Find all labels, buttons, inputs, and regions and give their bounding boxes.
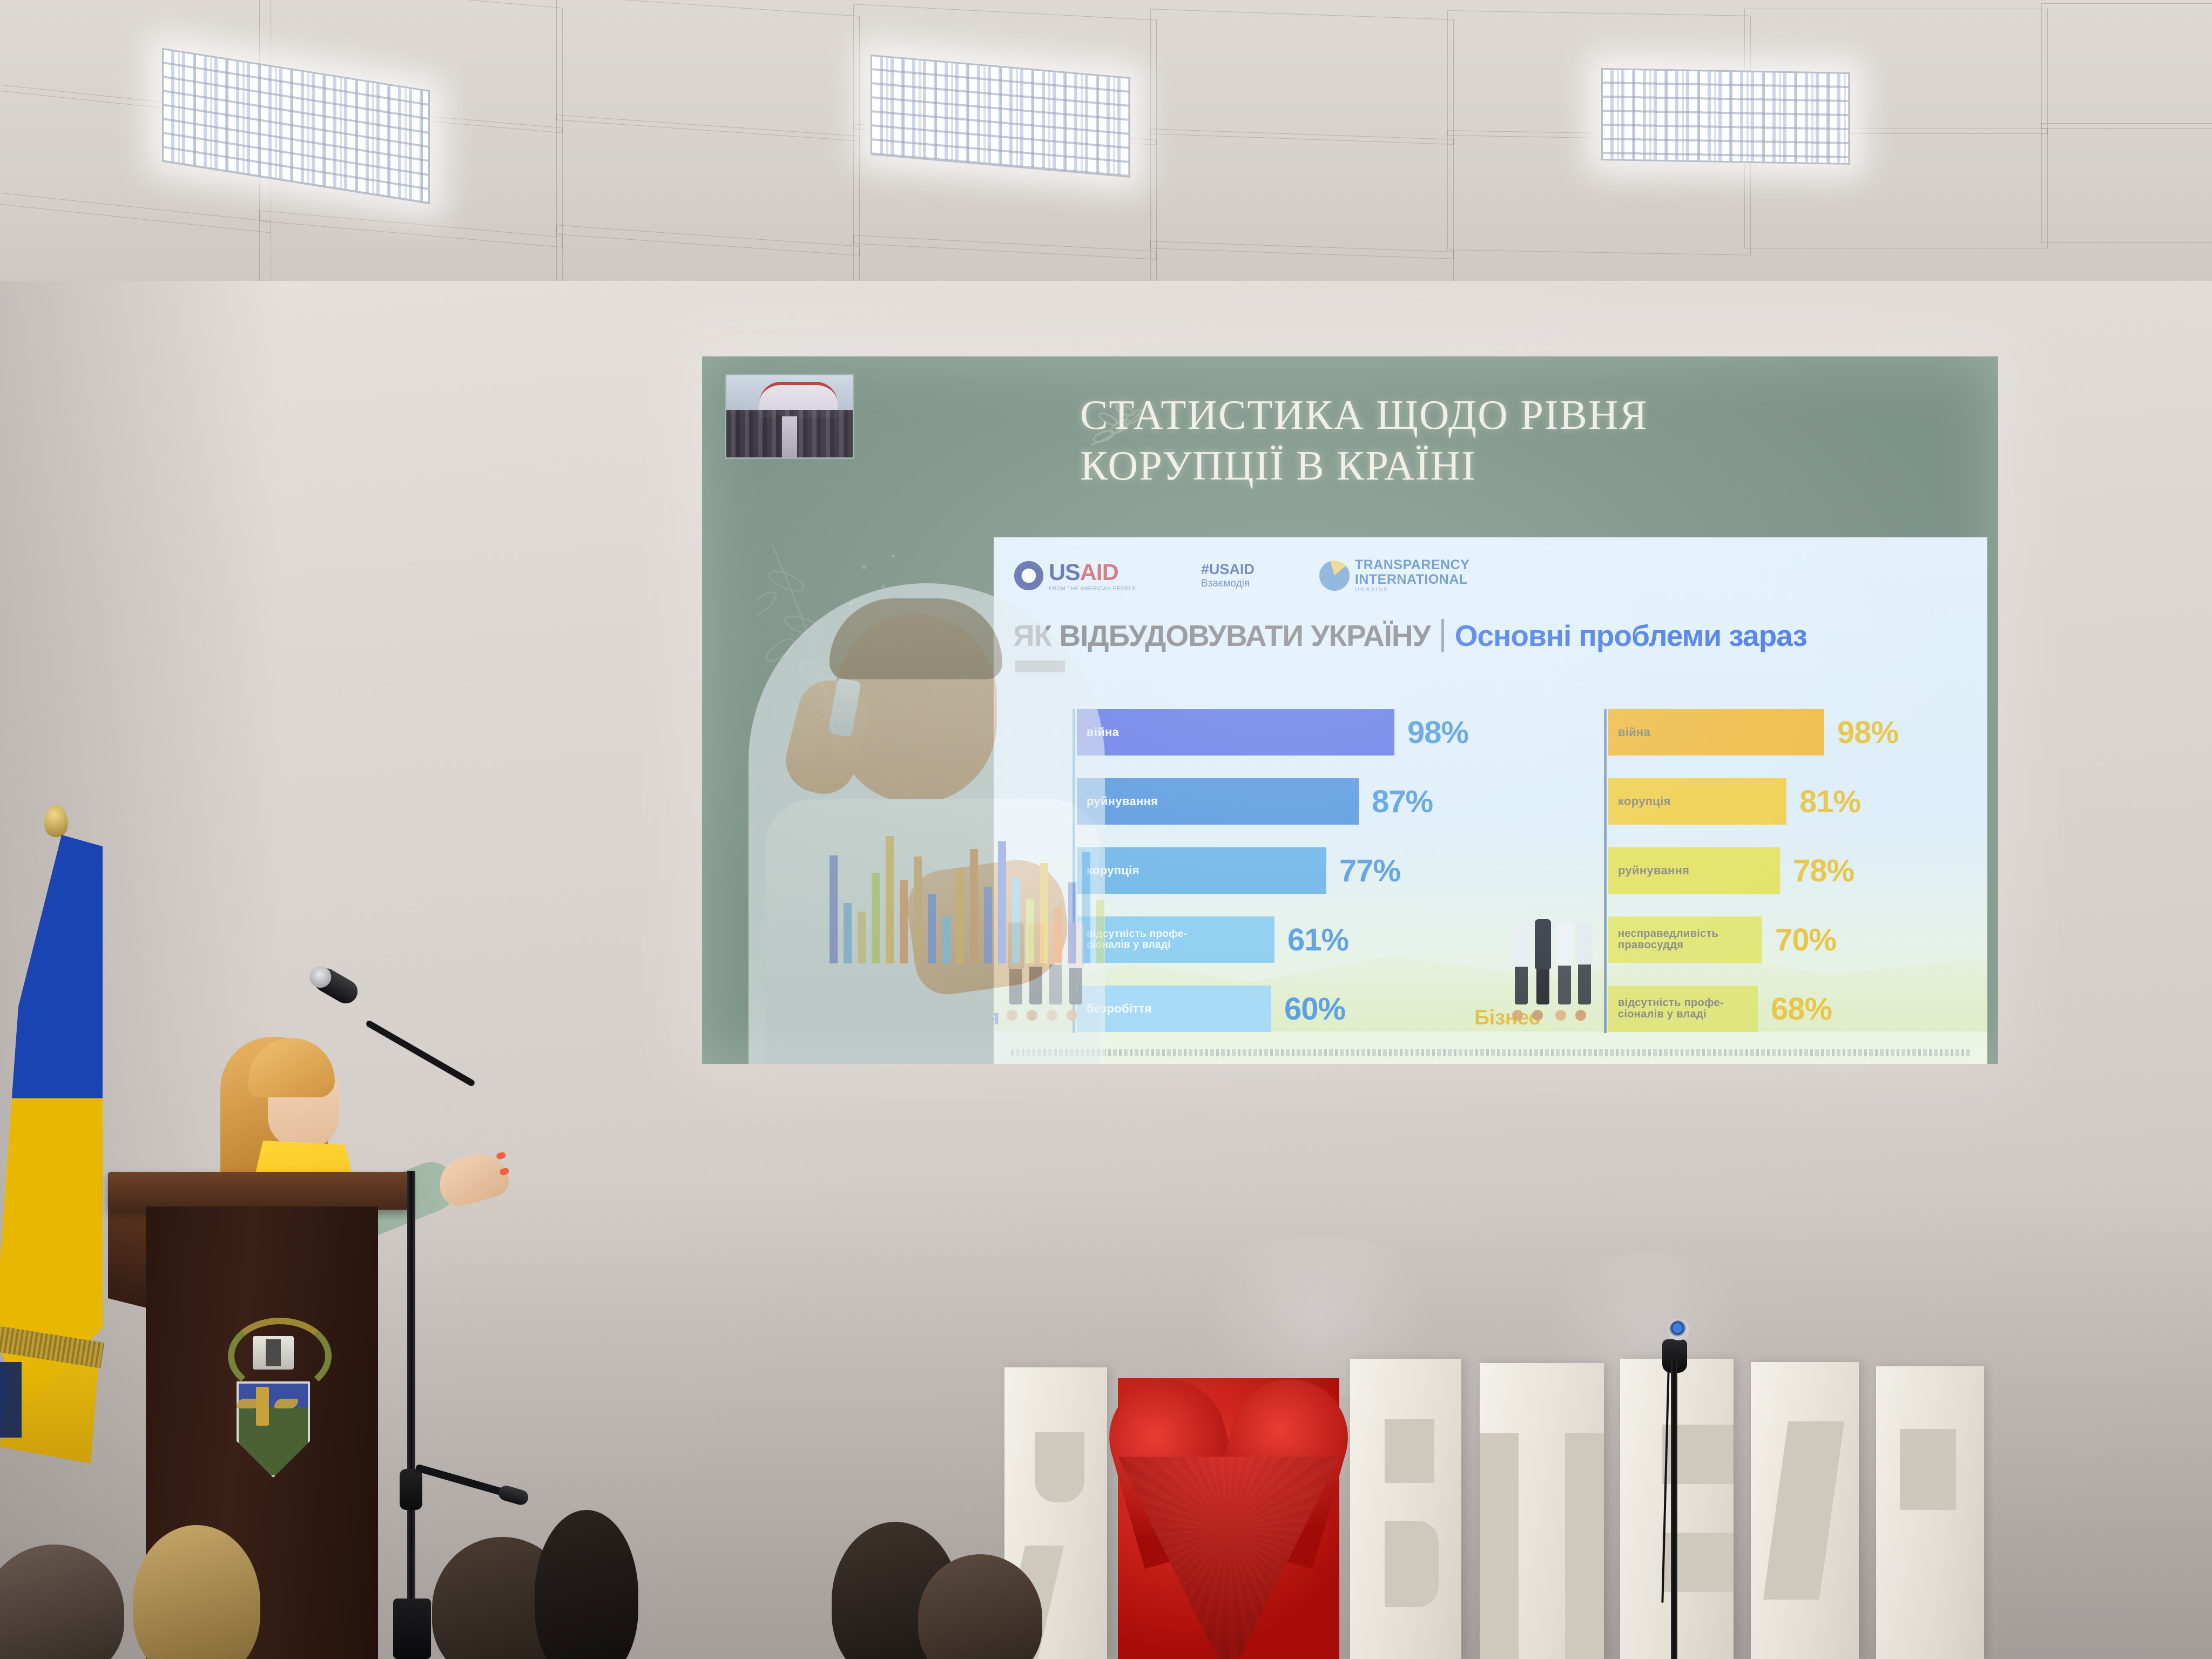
bar-value: 78% (1793, 853, 1854, 889)
flag-cloth (0, 835, 103, 1407)
business-group-label: Бізнес (1474, 1006, 1540, 1030)
business-people-illustration (1512, 918, 1594, 1004)
crest-shield (237, 1381, 310, 1478)
presentation-slide: СТАТИСТИКА ЩОДО РІВНЯ КОРУПЦІЇ В КРАЇНІ … (702, 356, 1998, 1064)
bar-row: відсутність профе- сіоналів у владі 68% (1608, 986, 1832, 1032)
ti-line2: INTERNATIONAL (1355, 572, 1470, 587)
bar: відсутність профе- сіоналів у владі (1608, 986, 1758, 1032)
bar: корупція (1608, 778, 1786, 825)
audience-head (0, 1545, 124, 1659)
ti-country: UKRAINE (1355, 586, 1470, 593)
usaid-aid-text: AID (1080, 559, 1118, 585)
bar: руйнування (1608, 847, 1780, 894)
flag-finial (44, 805, 68, 837)
audience-heads (0, 1497, 2212, 1659)
bar-row: руйнування 87% (1077, 778, 1433, 825)
usaid-us-text: US (1049, 559, 1080, 585)
bar-value: 98% (1407, 714, 1468, 751)
ti-globe-icon (1319, 561, 1350, 591)
bar-row: відсутність профе- сіоналів у владі 61% (1077, 916, 1348, 963)
fingernail (496, 1151, 507, 1160)
bar-row: безробіття 60% (1077, 986, 1345, 1032)
letter-cut (1035, 1432, 1084, 1502)
card-headline: ЯК ВІДБУДОВУВАТИ УКРАЇНУ Основні проблем… (1013, 618, 1807, 653)
projection-screen: СТАТИСТИКА ЩОДО РІВНЯ КОРУПЦІЇ В КРАЇНІ … (702, 356, 1998, 1064)
bar: несправедливість правосуддя (1608, 916, 1762, 963)
ti-line1: TRANSPARENCY (1355, 558, 1470, 572)
bar-row: війна 98% (1608, 709, 1898, 756)
bar-row: війна 98% (1077, 709, 1468, 756)
crest-book (253, 1336, 294, 1370)
crest-book-spine (266, 1339, 281, 1366)
ceiling-light-panel (1601, 68, 1850, 165)
headline-divider (1441, 619, 1444, 652)
crest-wing-right (274, 1399, 298, 1408)
chart-axis (1604, 709, 1607, 1033)
business-chart: Бізнес війна 98% корупція 81% руйнування (1604, 709, 1950, 1033)
bar-label: війна (1608, 726, 1650, 738)
slide-footnote (1011, 1049, 1972, 1056)
headline-right: Основні проблеми зараз (1455, 618, 1807, 653)
transparency-international-logo: TRANSPARENCY INTERNATIONAL UKRAINE (1319, 558, 1470, 593)
bar-row: несправедливість правосуддя 70% (1608, 916, 1836, 963)
usaid-hashtag: #USAID (1201, 561, 1255, 578)
bar-label: відсутність профе- сіоналів у владі (1608, 997, 1724, 1020)
bar: відсутність профе- сіоналів у владі (1077, 916, 1274, 963)
bar: війна (1077, 709, 1394, 756)
infographic-card: USAID FROM THE AMERICAN PEOPLE #USAID Вз… (994, 537, 1987, 1064)
bar: руйнування (1077, 778, 1359, 825)
bar-value: 81% (1799, 784, 1860, 820)
vzaemodiya-label: Взаємодія (1201, 578, 1255, 590)
letter-cut (1385, 1419, 1434, 1483)
podium-top (108, 1172, 410, 1210)
bar-row: руйнування 78% (1608, 847, 1854, 894)
flag-shadow (0, 1362, 22, 1438)
bar-value: 68% (1771, 991, 1832, 1027)
audience-head (535, 1510, 638, 1659)
bar-value: 70% (1775, 922, 1836, 958)
bar-label: несправедливість правосуддя (1608, 928, 1718, 951)
bar-row: корупція 81% (1608, 778, 1860, 825)
bar-value: 87% (1372, 784, 1433, 820)
podium-side (108, 1196, 151, 1309)
bar: війна (1608, 709, 1824, 756)
bar: безробіття (1077, 986, 1271, 1032)
university-crest-icon (225, 1318, 322, 1480)
usaid-vzaemodiya-logo: #USAID Взаємодія (1201, 561, 1255, 590)
slide-photo-man-on-phone (748, 583, 1105, 1064)
bar-row: корупція 77% (1077, 847, 1400, 894)
bar-value: 77% (1339, 853, 1400, 889)
camera-lens-icon (1668, 1319, 1689, 1340)
bar: корупція (1077, 847, 1326, 894)
bar-value: 98% (1837, 714, 1898, 751)
ukrainian-flag (0, 805, 124, 1469)
slide-thumbnail-photo (725, 374, 854, 459)
audience-head (133, 1525, 260, 1659)
bar-label: корупція (1608, 795, 1671, 807)
ceiling (0, 0, 2212, 302)
slide-title: СТАТИСТИКА ЩОДО РІВНЯ КОРУПЦІЇ В КРАЇНІ (1080, 390, 1782, 491)
population-chart: Населення війна 98% руйнування 87% коруп (1073, 709, 1483, 1033)
bar-value: 60% (1284, 991, 1345, 1027)
crest-wing-left (237, 1399, 260, 1408)
bar-value: 61% (1287, 922, 1348, 958)
bar-label: руйнування (1608, 864, 1689, 876)
crest-caduceus (256, 1387, 269, 1426)
conference-hall-scene: СТАТИСТИКА ЩОДО РІВНЯ КОРУПЦІЇ В КРАЇНІ … (0, 0, 2212, 1659)
